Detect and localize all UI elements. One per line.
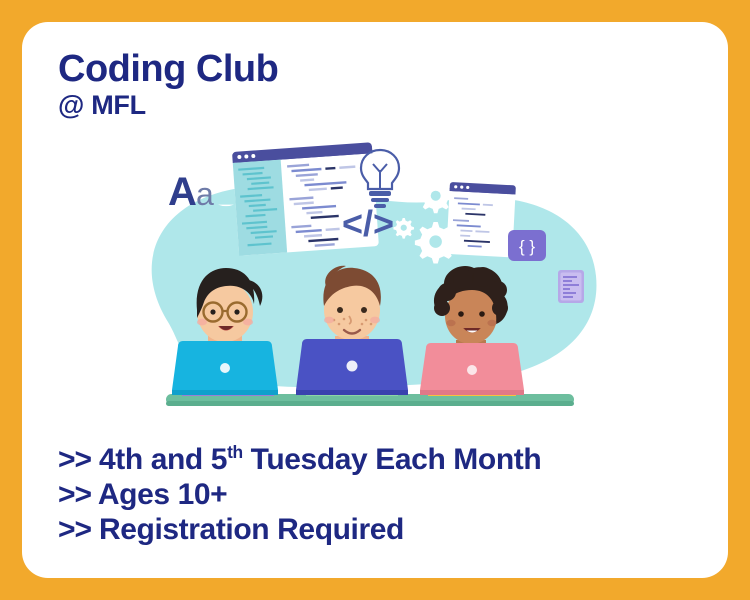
bullet-item-registration: >> Registration Required: [58, 512, 698, 547]
bullet-marker: >>: [58, 513, 91, 546]
bullet-marker: >>: [58, 443, 91, 476]
flyer-card: Coding Club @ MFL A a: [22, 22, 728, 578]
flyer-root: Coding Club @ MFL A a: [0, 0, 750, 600]
bullet-item-ages: >> Ages 10+: [58, 477, 698, 512]
bullet-list: >> 4th and 5th Tuesday Each Month >> Age…: [58, 442, 698, 547]
typography-icon: A a: [168, 170, 214, 214]
svg-text:A: A: [168, 170, 197, 214]
heading-block: Coding Club @ MFL: [58, 50, 278, 119]
desk-shadow: [166, 401, 574, 406]
bullet-text-main: Ages 10+: [98, 478, 227, 511]
bullet-marker: >>: [58, 478, 91, 511]
code-snippet-card: [558, 270, 584, 303]
page-title: Coding Club: [58, 50, 278, 88]
code-tag-icon: </>: [342, 203, 394, 244]
svg-text:{ }: { }: [519, 237, 535, 256]
bullet-item-schedule: >> 4th and 5th Tuesday Each Month: [58, 442, 698, 477]
bullet-ordinal-suffix: th: [227, 442, 243, 462]
bullet-text-main: 4th and 5: [99, 443, 227, 476]
illustration: A a: [120, 140, 620, 422]
bullet-text-tail: Tuesday Each Month: [243, 443, 542, 476]
bullet-text-main: Registration Required: [99, 513, 404, 546]
svg-text:</>: </>: [342, 203, 394, 244]
braces-badge: { }: [508, 230, 546, 261]
code-editor-window-small: [446, 182, 516, 257]
svg-text:a: a: [196, 176, 214, 212]
page-subtitle: @ MFL: [58, 92, 278, 119]
